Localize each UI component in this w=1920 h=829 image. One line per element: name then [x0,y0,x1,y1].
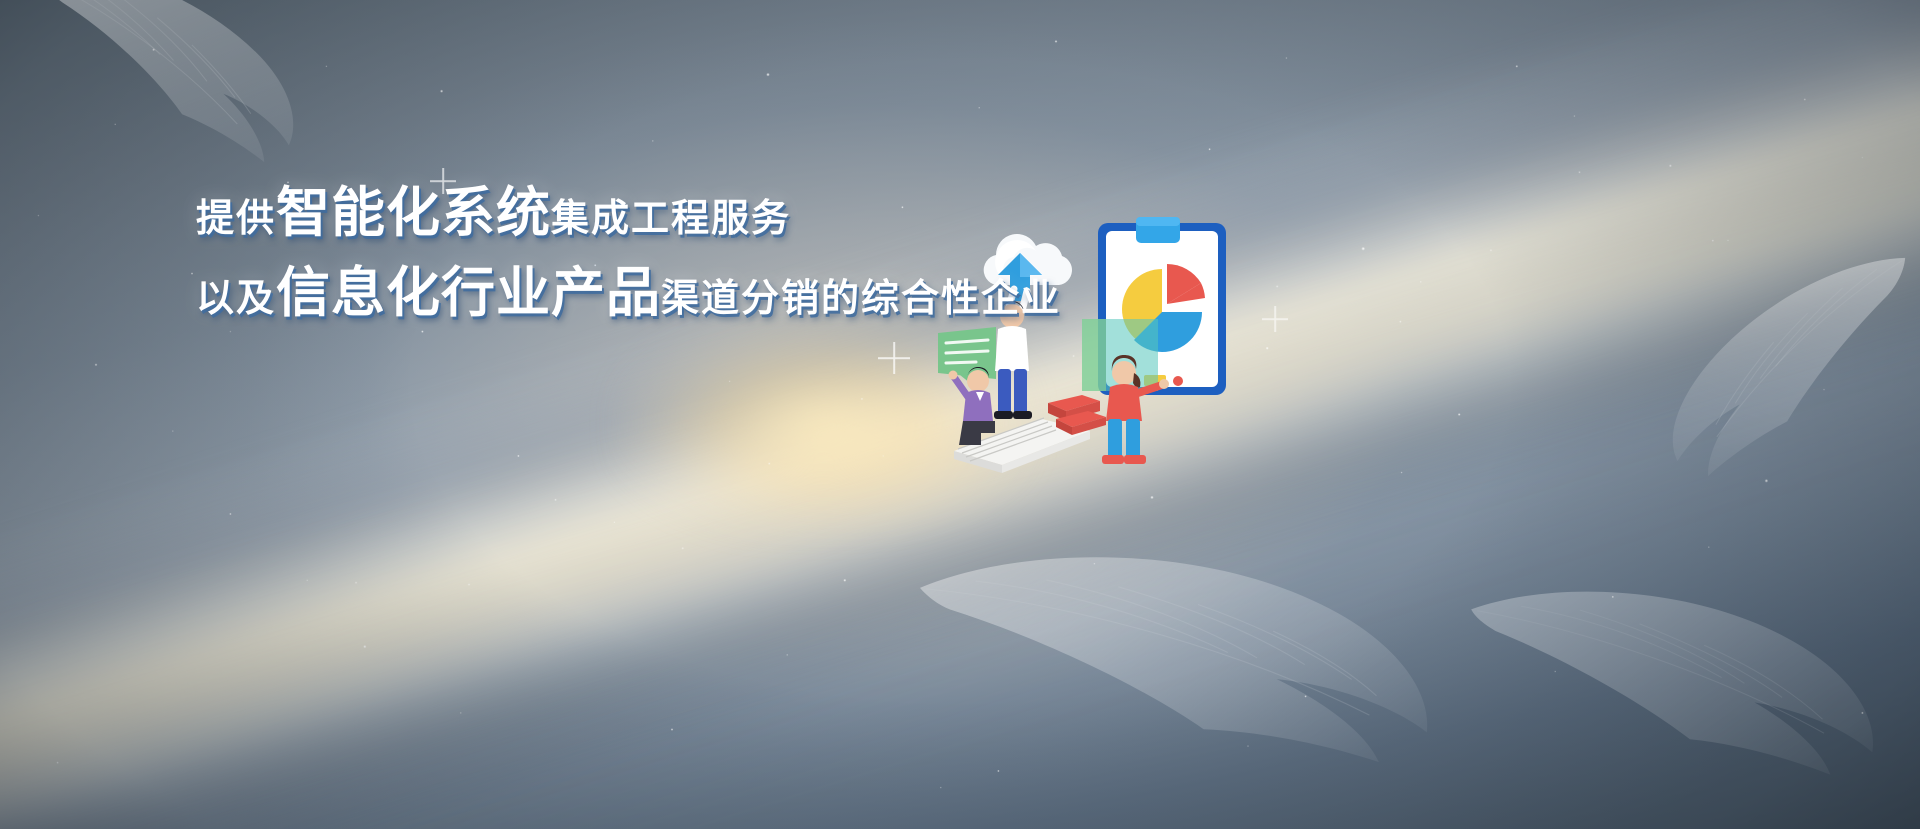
headline-line1-segment-2: 智能化系统 [276,186,551,240]
headline-block: 提供智能化系统集成工程服务 以及信息化行业产品渠道分销的综合性企业 [196,186,1096,320]
headline-line1-segment-1: 提供 [196,200,276,238]
speech-panel-green [938,327,996,383]
headline-line-2: 以及信息化行业产品渠道分销的综合性企业 [196,266,1096,320]
headline-line-1: 提供智能化系统集成工程服务 [196,186,1096,240]
headline-line2-segment-2: 信息化行业产品 [276,266,661,320]
headline-line2-segment-1: 以及 [196,280,276,318]
headline-line1-segment-3: 集成工程服务 [551,200,791,238]
hero-banner: 提供智能化系统集成工程服务 以及信息化行业产品渠道分销的综合性企业 [0,0,1920,829]
headline-line2-segment-3: 渠道分销的综合性企业 [661,280,1061,318]
person-sitting-purple [949,367,996,445]
